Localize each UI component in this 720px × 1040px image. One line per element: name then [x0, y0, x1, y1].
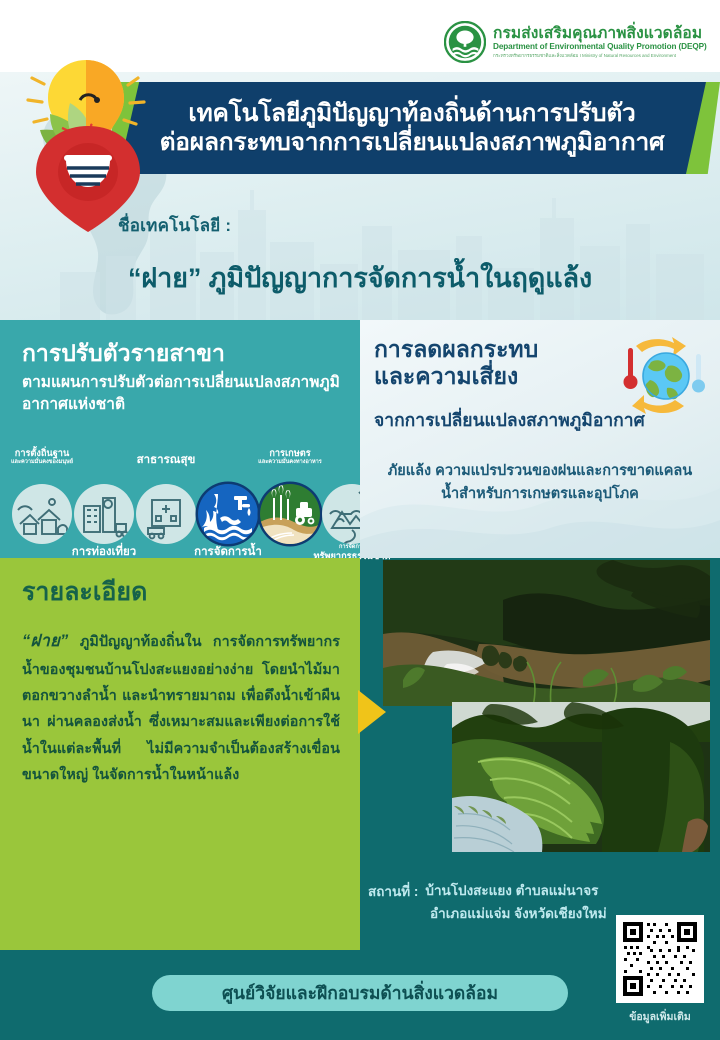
sector-agriculture-sublabel: และความมั่นคงทางอาหาร	[220, 459, 360, 466]
deqp-logo-header: กรมส่งเสริมคุณภาพสิ่งแวดล้อม Department …	[444, 18, 712, 66]
technology-name: “ฝาย” ภูมิปัญญาการจัดการน้ำในฤดูแล้ง	[0, 256, 720, 299]
sector-settlement[interactable]: การตั้งถิ่นฐาน และความมั่นคงของมนุษย์	[12, 484, 72, 544]
sector-agriculture-label: การเกษตร	[220, 448, 360, 459]
mitigation-panel: การลดผลกระทบ และความเสี่ยง จากการเปลี่ยน…	[360, 320, 720, 558]
main-title-line1: เทคโนโลยีภูมิปัญญาท้องถิ่นด้านการปรับตัว	[188, 100, 635, 127]
mitigation-heading: การลดผลกระทบ และความเสี่ยง	[374, 336, 538, 390]
photo-check-dam	[383, 560, 710, 706]
details-heading: รายละเอียด	[22, 572, 147, 612]
thermometer-cold	[692, 354, 705, 393]
mitigation-body-line1: ภัยแล้ง ความแปรปรวนของฝนและการขาดแคลน	[368, 460, 712, 483]
footer-center-name: ศูนย์วิจัยและฝึกอบรมด้านสิ่งแวดล้อม	[222, 979, 498, 1007]
mitigation-body-line2: น้ำสำหรับการเกษตรและอุปโภค	[368, 483, 712, 506]
adaptation-heading: การปรับตัวรายสาขา	[22, 336, 225, 372]
village-houses-icon	[12, 484, 72, 544]
mitigation-heading-line1: การลดผลกระทบ	[374, 336, 538, 363]
org-name-thai: กรมส่งเสริมคุณภาพสิ่งแวดล้อม	[493, 26, 707, 43]
org-ministry-line: กระทรวงทรัพยากรธรรมชาติและสิ่งแวดล้อม I …	[493, 53, 707, 59]
technology-label: ชื่อเทคโนโลยี :	[118, 212, 231, 239]
photo-rice-terrace	[452, 702, 710, 852]
adaptation-subheading: ตามแผนการปรับตัวต่อการเปลี่ยนแปลงสภาพภูม…	[22, 372, 342, 417]
crops-tractor-icon	[260, 484, 320, 544]
main-title-banner: เทคโนโลยีภูมิปัญญาท้องถิ่นด้านการปรับตัว…	[118, 82, 706, 174]
mitigation-heading-line2: และความเสี่ยง	[374, 363, 538, 390]
sector-water-management[interactable]: การจัดการน้ำ	[198, 484, 258, 544]
footer-center-pill: ศูนย์วิจัยและฝึกอบรมด้านสิ่งแวดล้อม	[152, 975, 568, 1011]
sector-tourism[interactable]: การท่องเที่ยว	[74, 484, 134, 544]
sector-icon-strip: การตั้งถิ่นฐาน และความมั่นคงของมนุษย์ กา…	[0, 448, 360, 556]
mitigation-subheading: จากการเปลี่ยนแปลงสภาพภูมิอากาศ	[374, 406, 645, 434]
org-name-english: Department of Environmental Quality Prom…	[493, 42, 707, 52]
globe-thermometer-cycle-icon	[610, 334, 706, 420]
details-body-text: ภูมิปัญญาท้องถิ่นใน การจัดการทรัพยากรน้ำ…	[22, 634, 340, 783]
sector-public-health[interactable]: สาธารณสุข	[136, 484, 196, 544]
qr-code-icon[interactable]	[616, 915, 704, 1003]
lightbulb-leaf-map-pin-icon	[18, 52, 158, 232]
sector-agriculture[interactable]: การเกษตร และความมั่นคงทางอาหาร	[260, 484, 320, 544]
thermometer-hot	[624, 348, 638, 389]
sector-public-health-label: สาธารณสุข	[96, 454, 236, 468]
qr-caption: ข้อมูลเพิ่มเติม	[606, 1008, 714, 1025]
river-faucet-icon	[198, 484, 258, 544]
details-panel: รายละเอียด “ฝาย” ภูมิปัญญาท้องถิ่นใน การ…	[0, 558, 360, 950]
details-quoted-term: “ฝาย”	[22, 632, 69, 650]
city-tourism-icon	[74, 484, 134, 544]
hospital-ambulance-icon	[136, 484, 196, 544]
location-label: สถานที่ :	[368, 880, 418, 902]
main-title-line2: ต่อผลกระทบจากการเปลี่ยนแปลงสภาพภูมิอากาศ	[160, 129, 665, 156]
details-body: “ฝาย” ภูมิปัญญาท้องถิ่นใน การจัดการทรัพย…	[22, 626, 340, 789]
mitigation-body: ภัยแล้ง ความแปรปรวนของฝนและการขาดแคลน น้…	[368, 460, 712, 507]
location-line1: บ้านโปงสะแยง ตำบลแม่นาจร	[425, 880, 598, 902]
deqp-tree-water-emblem-icon	[444, 21, 486, 63]
